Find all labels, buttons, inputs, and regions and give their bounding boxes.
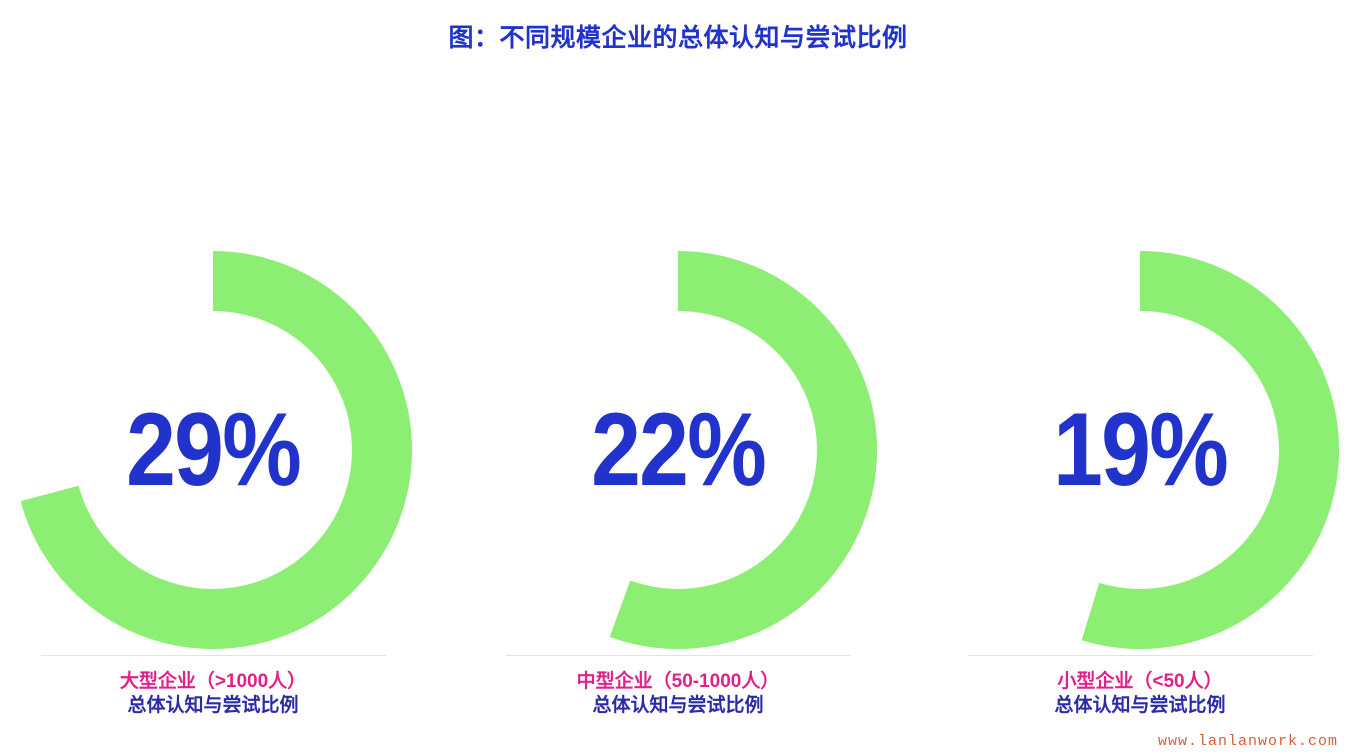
donut-panel-large-enterprise: 29% [13, 250, 413, 650]
donut-chart-0 [13, 250, 413, 650]
donut-value-arc-0 [44, 281, 382, 619]
caption-small-enterprise: 小型企业（<50人） 总体认知与尝试比例 [940, 655, 1340, 718]
caption-metric-1: 总体认知与尝试比例 [478, 694, 878, 718]
donut-chart-2 [940, 250, 1340, 650]
caption-divider-0 [41, 655, 386, 656]
caption-category-1: 中型企业（50-1000人） [478, 670, 878, 694]
donut-panel-small-enterprise: 19% [940, 250, 1340, 650]
donut-chart-row: 29% 22% 19% [0, 250, 1356, 650]
caption-divider-1 [506, 655, 851, 656]
caption-metric-0: 总体认知与尝试比例 [13, 694, 413, 718]
caption-divider-2 [968, 655, 1313, 656]
page-title: 图：不同规模企业的总体认知与尝试比例 [0, 18, 1356, 54]
caption-category-0: 大型企业（>1000人） [13, 670, 413, 694]
caption-medium-enterprise: 中型企业（50-1000人） 总体认知与尝试比例 [478, 655, 878, 718]
caption-large-enterprise: 大型企业（>1000人） 总体认知与尝试比例 [13, 655, 413, 718]
caption-category-2: 小型企业（<50人） [940, 670, 1340, 694]
caption-metric-2: 总体认知与尝试比例 [940, 694, 1340, 718]
watermark: www.lanlanwork.com [1158, 733, 1338, 750]
donut-panel-medium-enterprise: 22% [478, 250, 878, 650]
donut-chart-1 [478, 250, 878, 650]
donut-value-arc-2 [971, 281, 1309, 619]
donut-value-arc-1 [509, 281, 847, 619]
